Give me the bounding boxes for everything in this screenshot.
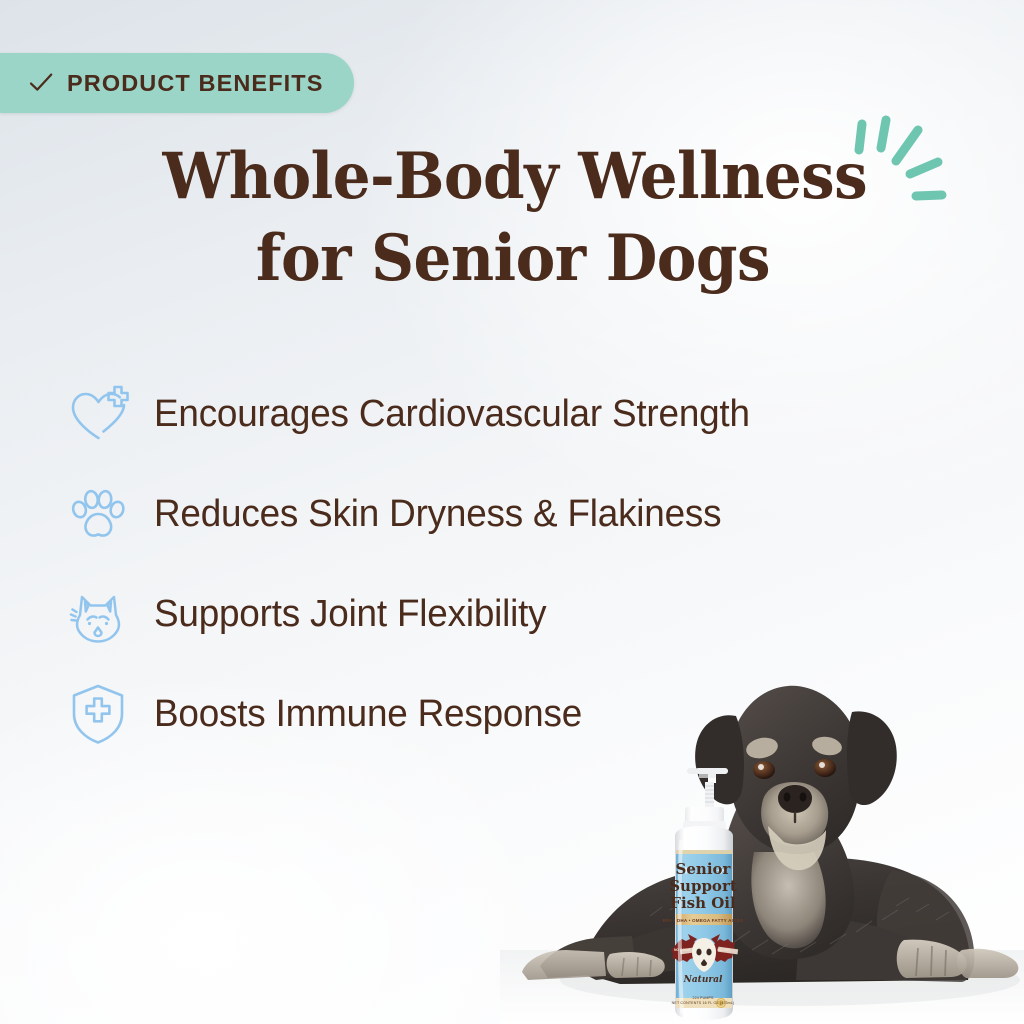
benefit-label: Encourages Cardiovascular Strength [154,393,750,436]
benefit-item-skin: Reduces Skin Dryness & Flakiness [62,464,962,564]
paw-print-icon [62,478,134,550]
benefit-label: Reduces Skin Dryness & Flakiness [154,493,721,536]
dog-head-icon [62,578,134,650]
headline-line-2: for Senior Dogs [36,218,988,300]
product-benefits-badge-label: PRODUCT BENEFITS [67,70,324,97]
benefit-label: Supports Joint Flexibility [154,593,546,636]
product-photo: Senior Support Fish Oil EPA • DHA • OMEG… [500,620,1024,1024]
check-icon [28,70,54,96]
senior-dog-photo [500,620,1024,1024]
shield-cross-icon [62,678,134,750]
benefit-item-cardiovascular: Encourages Cardiovascular Strength [62,364,962,464]
product-benefits-banner: PRODUCT BENEFITS Whole-Body Wellness for… [0,0,1024,1024]
headline-line-1: Whole-Body Wellness [36,136,988,218]
product-bottle [653,762,753,1024]
headline: Whole-Body Wellness for Senior Dogs [36,136,988,300]
heart-plus-icon [62,378,134,450]
product-benefits-badge: PRODUCT BENEFITS [0,53,354,113]
